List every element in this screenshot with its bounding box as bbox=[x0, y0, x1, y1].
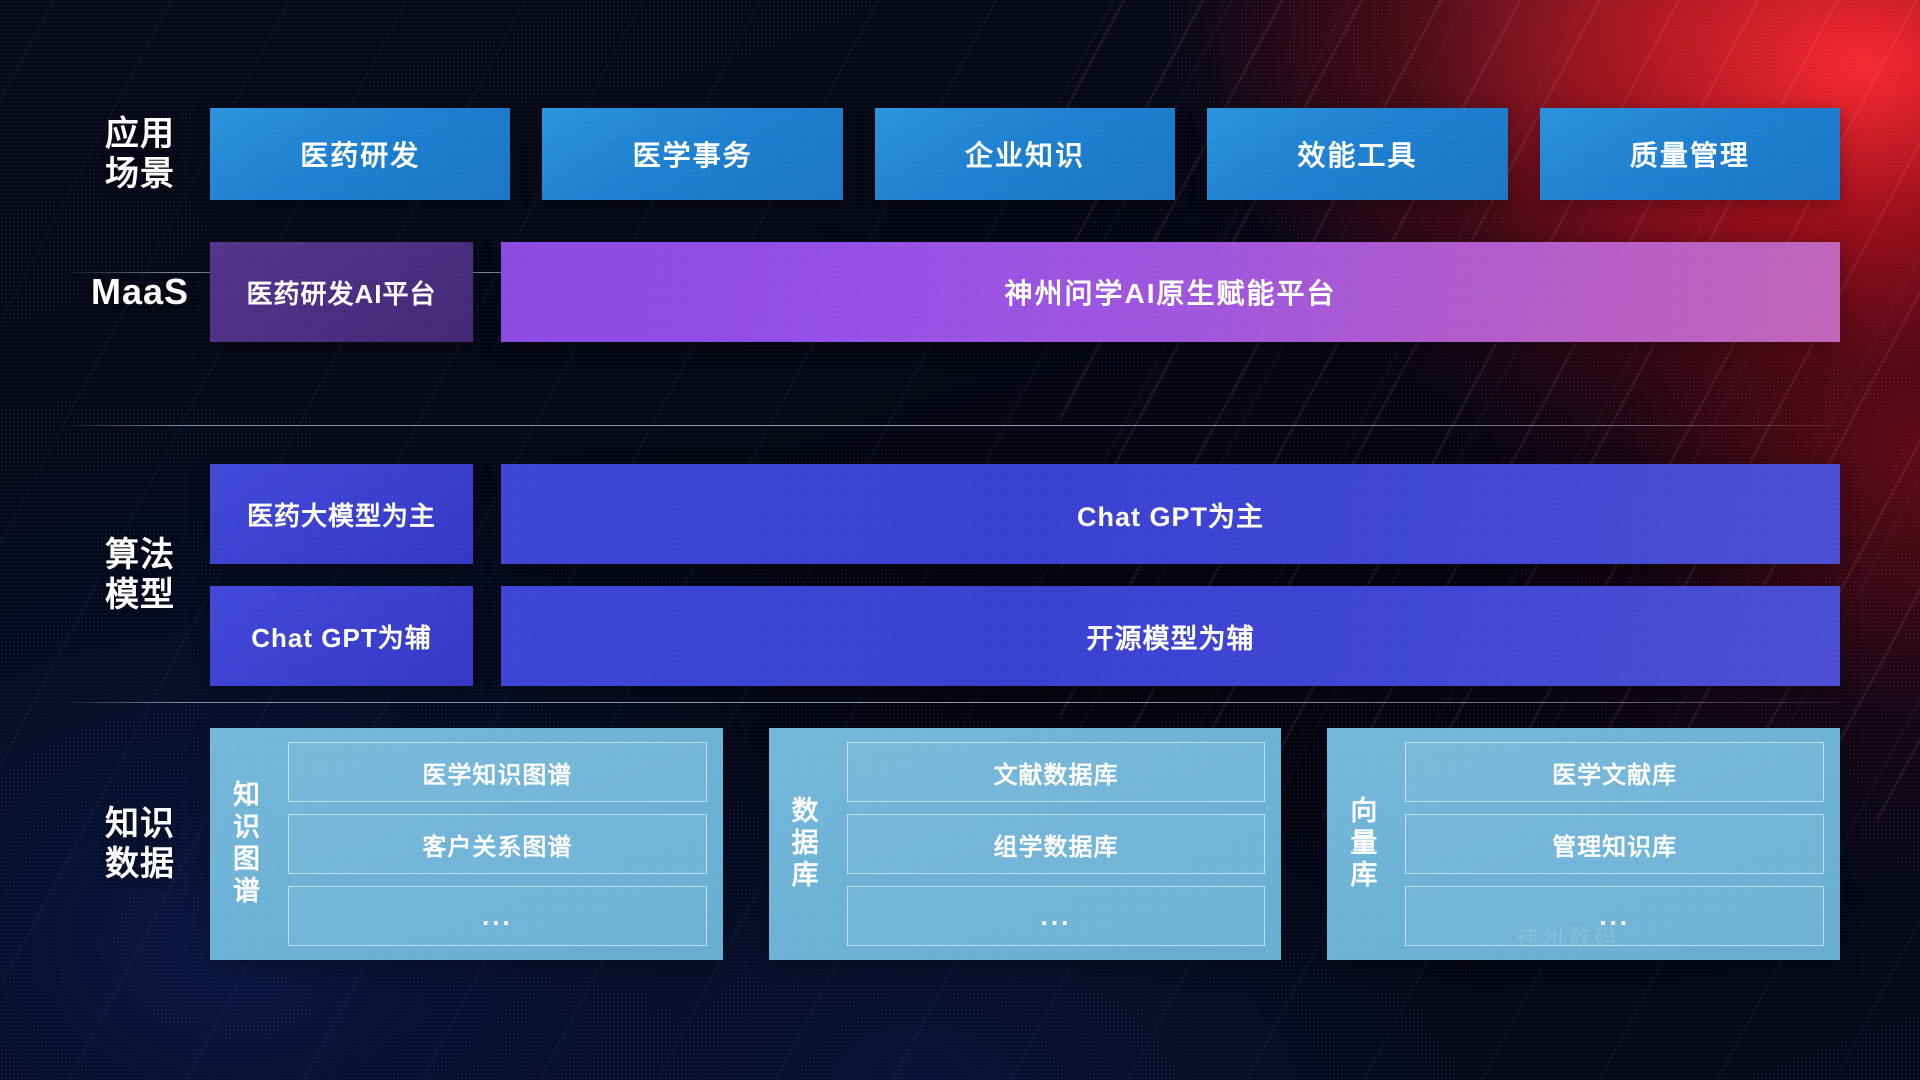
knowledge-item-customer-relation-graph[interactable]: 客户关系图谱 bbox=[288, 814, 707, 874]
knowledge-item-list: 医学知识图谱 客户关系图谱 ... bbox=[288, 742, 707, 946]
app-card-label: 医学事务 bbox=[633, 134, 753, 174]
algo-card-chatgpt-secondary[interactable]: Chat GPT为辅 bbox=[210, 586, 473, 686]
layer-maas: MaaS 医药研发AI平台 神州问学AI原生赋能平台 bbox=[70, 242, 1840, 342]
knowledge-group-database: 数据 库 文献数据库 组学数据库 ... bbox=[769, 728, 1282, 960]
app-card-label: 质量管理 bbox=[1630, 134, 1750, 174]
layer-label-application-scenarios: 应用 场景 bbox=[70, 114, 210, 194]
maas-card-medicine-rd-ai-platform[interactable]: 医药研发AI平台 bbox=[210, 242, 473, 342]
algo-card-open-source-secondary[interactable]: 开源模型为辅 bbox=[501, 586, 1840, 686]
maas-banner-shenzhou-wenxue[interactable]: 神州问学AI原生赋能平台 bbox=[501, 242, 1840, 342]
knowledge-item-more-database[interactable]: ... bbox=[847, 886, 1266, 946]
app-card-label: 企业知识 bbox=[965, 134, 1085, 174]
app-card-efficiency-tools[interactable]: 效能工具 bbox=[1207, 108, 1507, 200]
layer-label-maas: MaaS bbox=[70, 271, 210, 313]
app-card-quality-management[interactable]: 质量管理 bbox=[1540, 108, 1840, 200]
knowledge-group-vector-store: 向量 库 医学文献库 管理知识库 ... bbox=[1327, 728, 1840, 960]
layer-application-scenarios: 应用 场景 医药研发 医学事务 企业知识 效能工具 质量管理 bbox=[70, 108, 1840, 200]
layer-knowledge-data: 知识 数据 知识 图谱 医学知识图谱 客户关系图谱 ... 数据 库 文献数据库… bbox=[70, 728, 1840, 960]
app-card-label: 医药研发 bbox=[300, 134, 420, 174]
algorithm-model-rows: 医药大模型为主 Chat GPT为主 Chat GPT为辅 开源模型为辅 bbox=[210, 464, 1840, 686]
knowledge-group-label-knowledge-graph: 知识 图谱 bbox=[220, 742, 274, 946]
knowledge-item-literature-database[interactable]: 文献数据库 bbox=[847, 742, 1266, 802]
knowledge-item-more-knowledge-graph[interactable]: ... bbox=[288, 886, 707, 946]
app-card-enterprise-knowledge[interactable]: 企业知识 bbox=[875, 108, 1175, 200]
knowledge-item-omics-database[interactable]: 组学数据库 bbox=[847, 814, 1266, 874]
knowledge-groups: 知识 图谱 医学知识图谱 客户关系图谱 ... 数据 库 文献数据库 组学数据库… bbox=[210, 728, 1840, 960]
knowledge-item-list: 医学文献库 管理知识库 ... bbox=[1405, 742, 1824, 946]
maas-cards: 医药研发AI平台 神州问学AI原生赋能平台 bbox=[210, 242, 1840, 342]
algorithm-row-secondary: Chat GPT为辅 开源模型为辅 bbox=[210, 586, 1840, 686]
algo-card-label: Chat GPT为辅 bbox=[251, 618, 431, 655]
app-card-medical-affairs[interactable]: 医学事务 bbox=[542, 108, 842, 200]
knowledge-item-medical-knowledge-graph[interactable]: 医学知识图谱 bbox=[288, 742, 707, 802]
maas-card-label: 医药研发AI平台 bbox=[246, 274, 436, 311]
application-scenario-cards: 医药研发 医学事务 企业知识 效能工具 质量管理 bbox=[210, 108, 1840, 200]
knowledge-group-label-database: 数据 库 bbox=[779, 742, 833, 946]
maas-banner-label: 神州问学AI原生赋能平台 bbox=[1004, 272, 1336, 312]
algo-card-label: 开源模型为辅 bbox=[1087, 617, 1255, 656]
architecture-diagram: 应用 场景 医药研发 医学事务 企业知识 效能工具 质量管理 MaaS 医药研发… bbox=[0, 0, 1920, 1080]
algo-card-label: Chat GPT为主 bbox=[1077, 495, 1264, 534]
layer-label-knowledge-data: 知识 数据 bbox=[70, 804, 210, 884]
knowledge-item-list: 文献数据库 组学数据库 ... bbox=[847, 742, 1266, 946]
knowledge-item-more-vector-store[interactable]: ... bbox=[1405, 886, 1824, 946]
app-card-label: 效能工具 bbox=[1297, 134, 1417, 174]
algorithm-row-primary: 医药大模型为主 Chat GPT为主 bbox=[210, 464, 1840, 564]
app-card-medicine-rd[interactable]: 医药研发 bbox=[210, 108, 510, 200]
knowledge-group-knowledge-graph: 知识 图谱 医学知识图谱 客户关系图谱 ... bbox=[210, 728, 723, 960]
algo-card-medicine-large-model-primary[interactable]: 医药大模型为主 bbox=[210, 464, 473, 564]
algo-card-label: 医药大模型为主 bbox=[247, 496, 436, 533]
divider-algorithm-knowledge bbox=[70, 702, 1840, 703]
knowledge-group-label-vector-store: 向量 库 bbox=[1337, 742, 1391, 946]
knowledge-item-management-knowledge-store[interactable]: 管理知识库 bbox=[1405, 814, 1824, 874]
layer-algorithm-models: 算法 模型 医药大模型为主 Chat GPT为主 Chat GPT为辅 开源模型… bbox=[70, 464, 1840, 686]
algo-card-chatgpt-primary[interactable]: Chat GPT为主 bbox=[501, 464, 1840, 564]
divider-maas-algorithm bbox=[70, 425, 1840, 426]
layer-label-algorithm-models: 算法 模型 bbox=[70, 535, 210, 615]
knowledge-item-medical-literature-store[interactable]: 医学文献库 bbox=[1405, 742, 1824, 802]
